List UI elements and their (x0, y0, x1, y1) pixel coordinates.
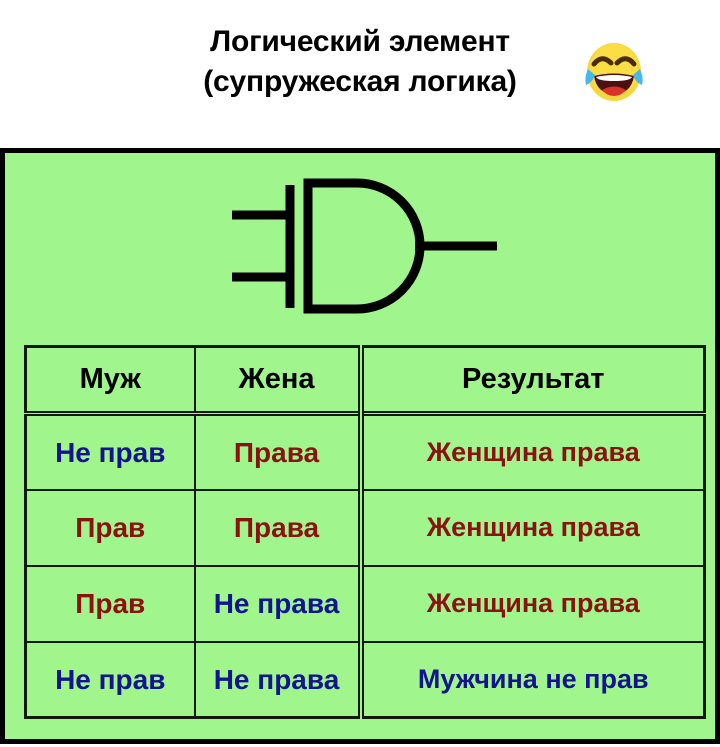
truth-table-header: Муж Жена Результат (26, 347, 705, 414)
cell-result: Женщина права (361, 490, 705, 566)
face-with-tears-of-joy-icon (578, 36, 650, 108)
logic-gate-diagram: Муж Жена Результат (5, 153, 715, 333)
table-row: Не прав Права Женщина права (26, 414, 705, 490)
and-gate-body (308, 183, 420, 309)
cell-wife: Не права (195, 566, 361, 642)
table-row: Прав Не права Женщина права (26, 566, 705, 642)
cell-husband: Не прав (26, 414, 195, 490)
truth-table: Муж Жена Результат Не прав Права Женщина… (24, 345, 706, 719)
content-panel: Муж Жена Результат Муж Жена Результат Не… (0, 148, 720, 744)
cell-wife: Права (195, 490, 361, 566)
cell-husband: Прав (26, 566, 195, 642)
cell-wife: Не права (195, 642, 361, 718)
truth-table-body: Не прав Права Женщина права Прав Права Ж… (26, 414, 705, 718)
table-header-row: Муж Жена Результат (26, 347, 705, 414)
cell-wife: Права (195, 414, 361, 490)
cell-husband: Не прав (26, 642, 195, 718)
table-row: Прав Права Женщина права (26, 490, 705, 566)
cell-husband: Прав (26, 490, 195, 566)
cell-result: Мужчина не прав (361, 642, 705, 718)
column-header-wife: Жена (195, 347, 361, 414)
cell-result: Женщина права (361, 414, 705, 490)
cell-result: Женщина права (361, 566, 705, 642)
title-band: Логический элемент (супружеская логика) (0, 0, 720, 146)
column-header-husband: Муж (26, 347, 195, 414)
table-row: Не прав Не права Мужчина не прав (26, 642, 705, 718)
column-header-result: Результат (361, 347, 705, 414)
